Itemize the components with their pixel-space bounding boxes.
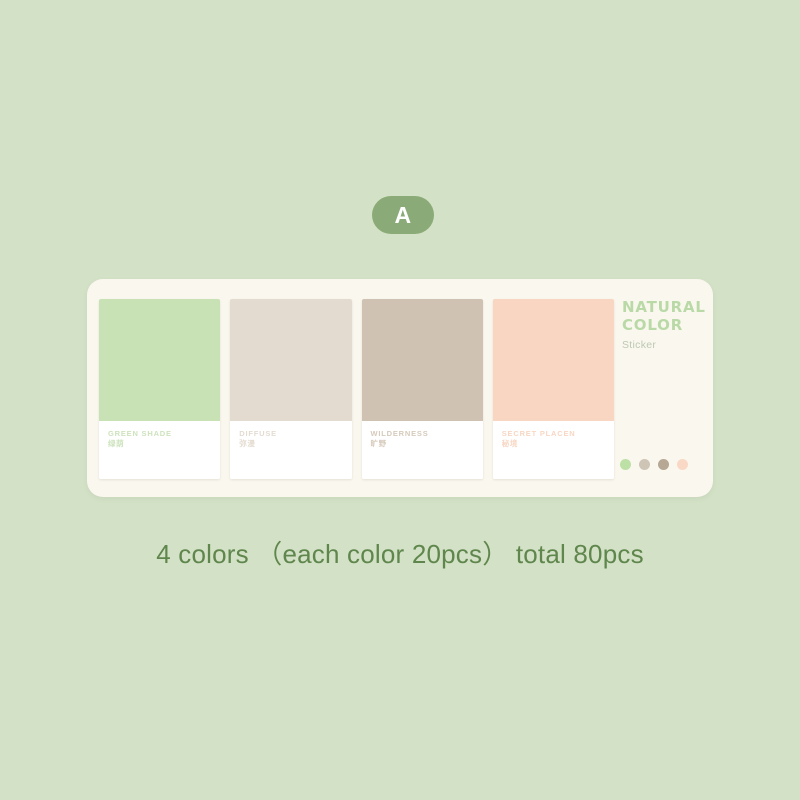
color-dot bbox=[658, 459, 669, 470]
brand-title: NATURAL COLOR bbox=[622, 299, 702, 334]
sticker-pad[interactable]: GREEN SHADE 绿荫 bbox=[99, 299, 220, 479]
sticker-pad[interactable]: WILDERNESS 旷野 bbox=[362, 299, 483, 479]
sticker-pad-name-cn: 弥漫 bbox=[239, 438, 342, 449]
sticker-pad-color-block bbox=[99, 299, 220, 421]
sticker-pad-name-cn: 绿荫 bbox=[108, 438, 211, 449]
color-dot bbox=[677, 459, 688, 470]
sticker-pad-name-en: WILDERNESS bbox=[371, 429, 474, 438]
sticker-pad-name-cn: 旷野 bbox=[371, 438, 474, 449]
sticker-pad-caption: DIFFUSE 弥漫 bbox=[230, 421, 351, 479]
product-card: GREEN SHADE 绿荫 DIFFUSE 弥漫 WILDERNESS 旷野 … bbox=[87, 279, 713, 497]
color-dot bbox=[639, 459, 650, 470]
brand-subtitle: Sticker bbox=[622, 339, 702, 351]
brand-block: NATURAL COLOR Sticker bbox=[622, 299, 702, 351]
variant-badge-label: A bbox=[394, 204, 411, 227]
sticker-pad[interactable]: SECRET PLACEN 秘境 bbox=[493, 299, 614, 479]
sticker-pad-color-block bbox=[362, 299, 483, 421]
sticker-pad-color-block bbox=[493, 299, 614, 421]
sticker-pad-caption: WILDERNESS 旷野 bbox=[362, 421, 483, 479]
sticker-pad-color-block bbox=[230, 299, 351, 421]
sticker-pads-row: GREEN SHADE 绿荫 DIFFUSE 弥漫 WILDERNESS 旷野 … bbox=[99, 299, 614, 479]
sticker-pad-name-cn: 秘境 bbox=[502, 438, 605, 449]
color-dot bbox=[620, 459, 631, 470]
sticker-pad[interactable]: DIFFUSE 弥漫 bbox=[230, 299, 351, 479]
color-dots bbox=[620, 459, 688, 470]
variant-badge[interactable]: A bbox=[372, 196, 434, 234]
sticker-pad-name-en: SECRET PLACEN bbox=[502, 429, 605, 438]
sticker-pad-name-en: DIFFUSE bbox=[239, 429, 342, 438]
sticker-pad-caption: SECRET PLACEN 秘境 bbox=[493, 421, 614, 479]
sticker-pad-name-en: GREEN SHADE bbox=[108, 429, 211, 438]
sticker-pad-caption: GREEN SHADE 绿荫 bbox=[99, 421, 220, 479]
bottom-caption: 4 colors （each color 20pcs） total 80pcs bbox=[0, 534, 800, 571]
